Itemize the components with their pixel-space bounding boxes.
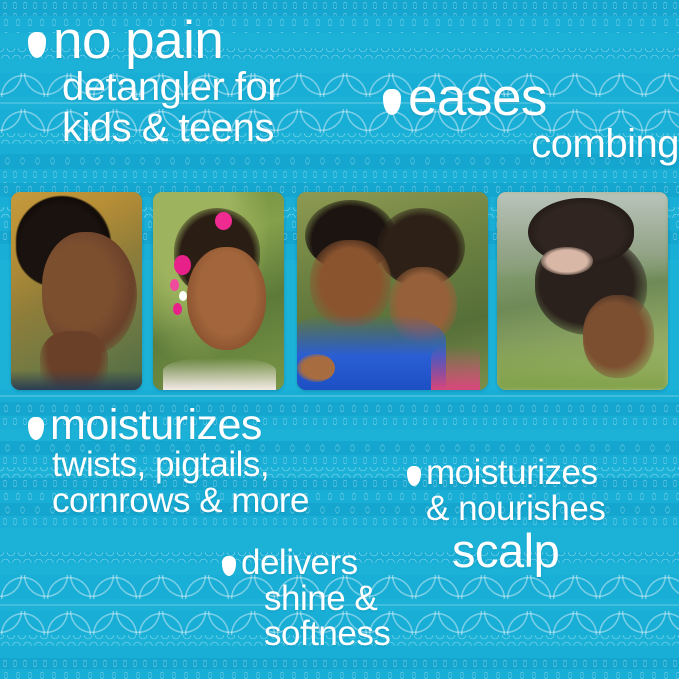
claim-no-pain-headline: no pain xyxy=(53,16,223,67)
claim-moisturizes-styles: moisturizes twists, pigtails, cornrows &… xyxy=(28,404,309,518)
water-droplet-icon xyxy=(407,466,421,486)
claim-moisturizes-scalp-headline: moisturizes xyxy=(426,455,597,491)
water-droplet-icon xyxy=(222,556,236,576)
claim-eases-headline-row: eases xyxy=(383,73,679,124)
claim-moisturizes-scalp-headline-row: moisturizes xyxy=(407,455,605,491)
claim-delivers-headline-row: delivers xyxy=(222,545,390,581)
claim-delivers-headline: delivers xyxy=(241,545,358,581)
claim-moisturizes-styles-line2: twists, pigtails, xyxy=(52,447,309,483)
product-benefits-poster: no pain detangler for kids & teens eases… xyxy=(0,0,679,679)
claim-no-pain-line3: kids & teens xyxy=(62,108,280,149)
claim-delivers-shine: delivers shine & softness xyxy=(222,545,390,652)
claim-moisturizes-scalp: moisturizes & nourishes scalp xyxy=(407,455,605,576)
claim-delivers-line3: softness xyxy=(264,616,390,652)
claim-eases-line2: combing xyxy=(383,124,679,165)
claim-moisturizes-scalp-line3: scalp xyxy=(426,526,605,575)
claim-no-pain-line2: detangler for xyxy=(62,67,280,108)
claim-delivers-line2: shine & xyxy=(264,581,390,617)
claim-eases-headline: eases xyxy=(408,73,547,124)
water-droplet-icon xyxy=(28,417,44,440)
water-droplet-icon xyxy=(28,32,46,58)
claim-moisturizes-scalp-line2: & nourishes xyxy=(426,491,605,527)
claim-no-pain-headline-row: no pain xyxy=(28,16,280,67)
claim-no-pain: no pain detangler for kids & teens xyxy=(28,16,280,148)
claim-eases-combing: eases combing xyxy=(383,73,679,165)
claim-moisturizes-styles-headline: moisturizes xyxy=(50,404,262,447)
claim-moisturizes-styles-line3: cornrows & more xyxy=(52,483,309,519)
water-droplet-icon xyxy=(383,89,401,115)
claim-moisturizes-styles-headline-row: moisturizes xyxy=(28,404,309,447)
